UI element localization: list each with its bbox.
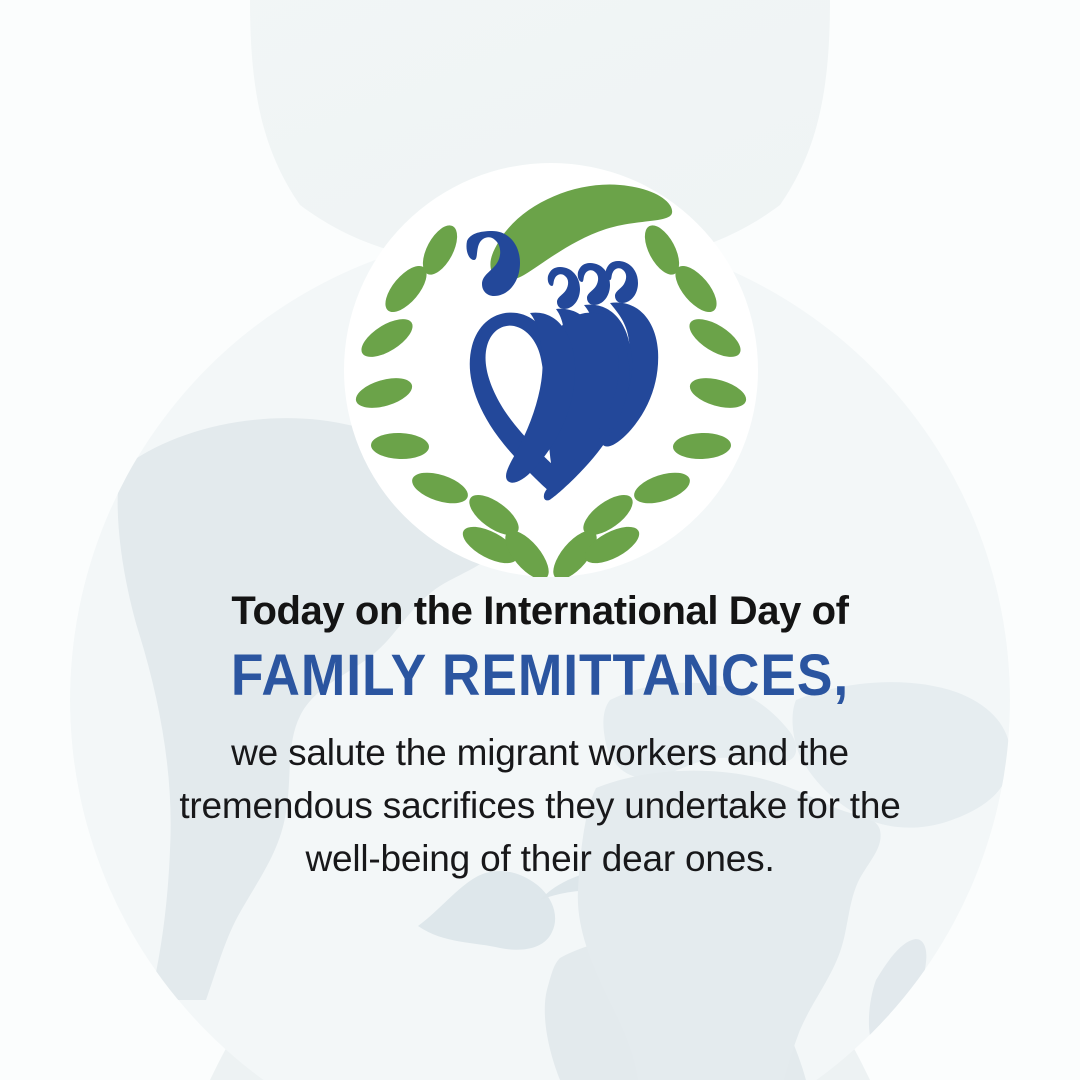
body-line-1: we salute the migrant workers and the: [54, 726, 1026, 779]
message-block: Today on the International Day of FAMILY…: [0, 588, 1080, 886]
headline-primary: Today on the International Day of: [54, 588, 1026, 635]
family-remittances-logo: [344, 163, 758, 577]
poster-canvas: Today on the International Day of FAMILY…: [0, 0, 1080, 1080]
body-line-2: tremendous sacrifices they undertake for…: [54, 779, 1026, 832]
headline-accent: FAMILY REMITTANCES,: [93, 641, 987, 712]
body-line-3: well-being of their dear ones.: [54, 832, 1026, 885]
body-copy: we salute the migrant workers and the tr…: [54, 726, 1026, 886]
logo-svg: [344, 163, 758, 577]
